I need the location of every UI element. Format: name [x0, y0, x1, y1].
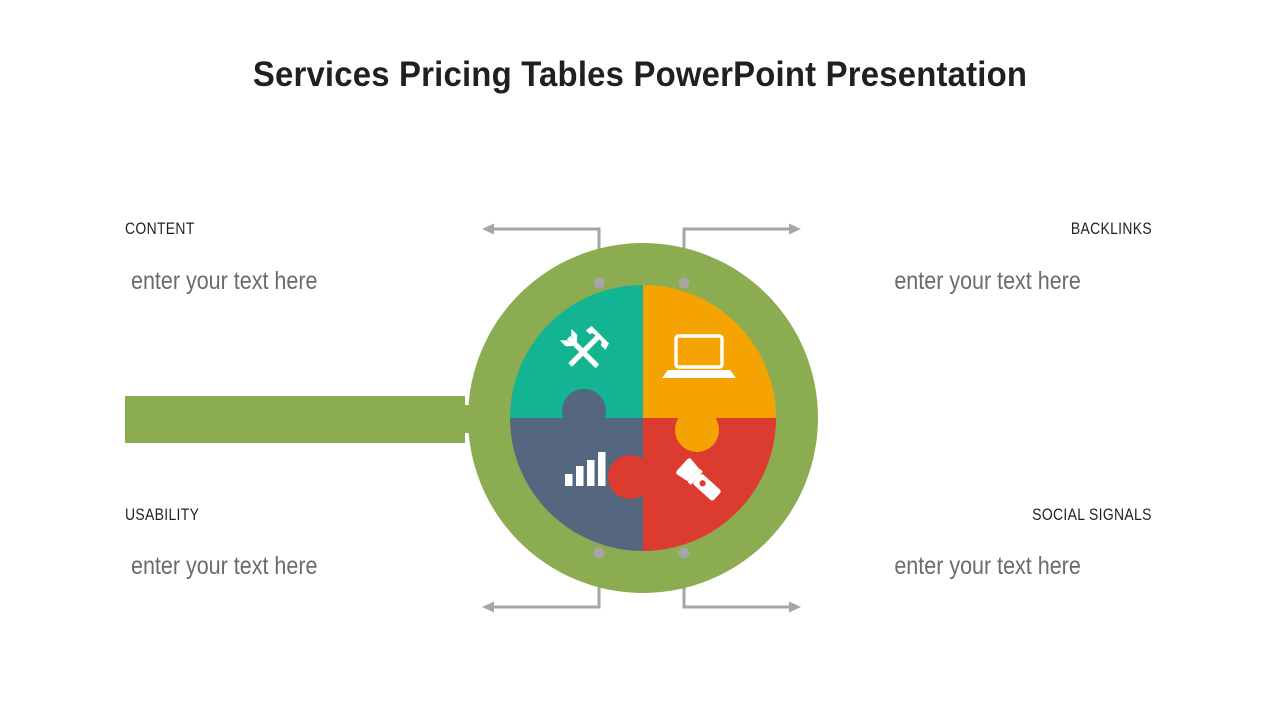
connector-line-social-signals: [684, 553, 794, 607]
body-social-signals: enter your text here: [895, 551, 1081, 581]
connector-dot-social-signals: [679, 548, 690, 559]
page-title: Services Pricing Tables PowerPoint Prese…: [38, 52, 1241, 98]
body-content: enter your text here: [131, 266, 317, 296]
quadrant-backlinks[interactable]: [643, 285, 776, 418]
puzzle-knob-usability-up: [562, 389, 606, 433]
connector-lines: [489, 229, 794, 607]
heading-usability: USABILITY: [125, 505, 199, 525]
connector-line-backlinks: [684, 229, 794, 283]
puzzle-knob-backlinks-down: [675, 408, 719, 452]
heading-content: CONTENT: [125, 219, 195, 239]
heading-backlinks: BACKLINKS: [1071, 219, 1152, 239]
bar-chart-icon: [565, 452, 606, 486]
quadrant-usability[interactable]: [510, 418, 643, 551]
infographic-svg: [0, 0, 1280, 720]
green-tab-bar: [125, 396, 485, 443]
heading-social-signals: SOCIAL SIGNALS: [1032, 505, 1152, 525]
connector-dots: [594, 278, 690, 559]
body-backlinks: enter your text here: [895, 266, 1081, 296]
arrowhead-left-bottom: [482, 602, 494, 613]
arrowhead-left-top: [482, 224, 494, 235]
hammer-wrench-icon: [560, 325, 610, 375]
connector-line-usability: [489, 553, 599, 607]
outer-green-ring: [468, 243, 818, 593]
flashlight-icon: [675, 457, 724, 504]
connector-dot-usability: [594, 548, 605, 559]
quadrant-social-signals[interactable]: [643, 418, 776, 551]
slide-canvas: Services Pricing Tables PowerPoint Prese…: [0, 0, 1280, 720]
connector-dot-backlinks: [679, 278, 690, 289]
connector-arrowheads: [482, 224, 801, 613]
body-usability: enter your text here: [131, 551, 317, 581]
puzzle-quadrants: [510, 285, 776, 551]
arrowhead-right-top: [789, 224, 801, 235]
connector-line-content: [489, 229, 599, 283]
connector-dot-content: [594, 278, 605, 289]
puzzle-circle-infographic: [0, 0, 1280, 720]
quadrant-content[interactable]: [510, 285, 643, 418]
puzzle-knob-social-left: [608, 455, 652, 499]
laptop-icon: [662, 336, 736, 378]
arrowhead-right-bottom: [789, 602, 801, 613]
